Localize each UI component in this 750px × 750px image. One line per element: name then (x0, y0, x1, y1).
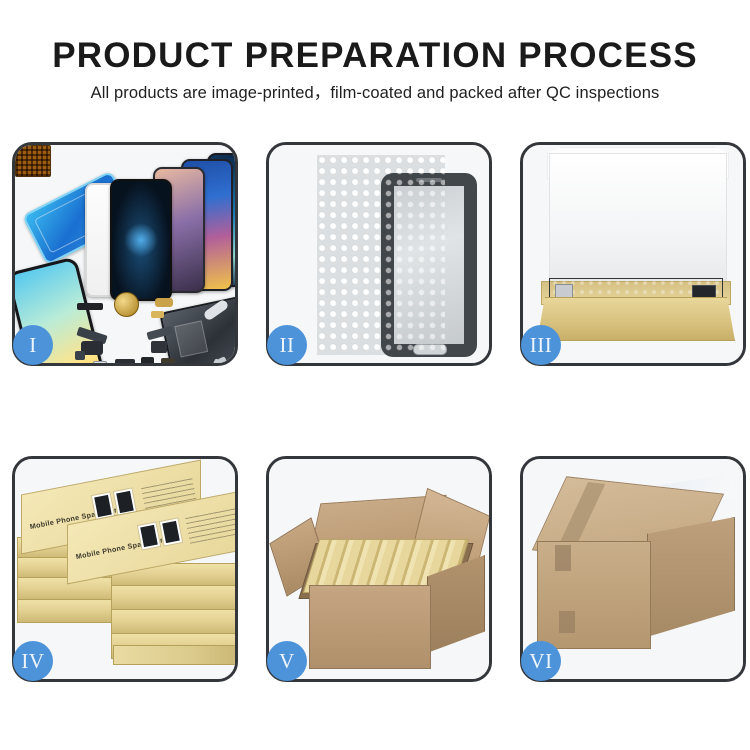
step-image-6 (523, 459, 743, 679)
step-badge-4: IV (13, 641, 53, 681)
spare-part (141, 357, 154, 363)
step-image-1 (15, 145, 235, 363)
spare-part (75, 351, 85, 360)
wrapped-screen-assembly (381, 173, 477, 357)
step-panel-2[interactable]: II (266, 142, 492, 366)
connector-grid-part (15, 145, 51, 177)
step-image-3 (523, 145, 743, 363)
stacked-box (17, 577, 115, 601)
step-badge-3: III (521, 325, 561, 365)
spare-part (151, 341, 167, 353)
process-step-grid: I II III (0, 0, 750, 750)
spare-part (115, 359, 135, 363)
step-panel-3[interactable]: III (520, 142, 746, 366)
carton-tape-tab (559, 611, 575, 633)
step-panel-6[interactable]: VI (520, 456, 746, 682)
spare-part (93, 361, 107, 363)
carton-tape-tab (555, 545, 571, 571)
step-panel-4[interactable]: Mobile Phone Spare Parts Mobile Phone Sp… (12, 456, 238, 682)
carton-right-face (647, 517, 735, 637)
stacked-box (111, 585, 235, 611)
step-image-2 (269, 145, 489, 363)
step-badge-1: I (13, 325, 53, 365)
stacked-box (111, 609, 235, 635)
spare-part (77, 303, 103, 310)
coil-part-icon (114, 292, 139, 317)
step-panel-1[interactable]: I (12, 142, 238, 366)
earpiece-speaker (416, 178, 442, 182)
bubble-wrap-sheet (317, 155, 445, 355)
spare-part (161, 358, 175, 363)
step-badge-2: II (267, 325, 307, 365)
spare-part (155, 298, 173, 307)
step-badge-5: V (267, 641, 307, 681)
spare-part (151, 311, 164, 318)
step-image-5 (269, 459, 489, 679)
step-panel-5[interactable]: V (266, 456, 492, 682)
kraft-box-front-wall (537, 297, 735, 341)
foam-lining (549, 153, 727, 283)
stacked-box (113, 645, 235, 665)
step-badge-6: VI (521, 641, 561, 681)
phone-device-black (110, 179, 172, 301)
stacked-box (17, 599, 115, 623)
carton-front-face (309, 585, 431, 669)
step-image-4: Mobile Phone Spare Parts Mobile Phone Sp… (15, 459, 235, 679)
